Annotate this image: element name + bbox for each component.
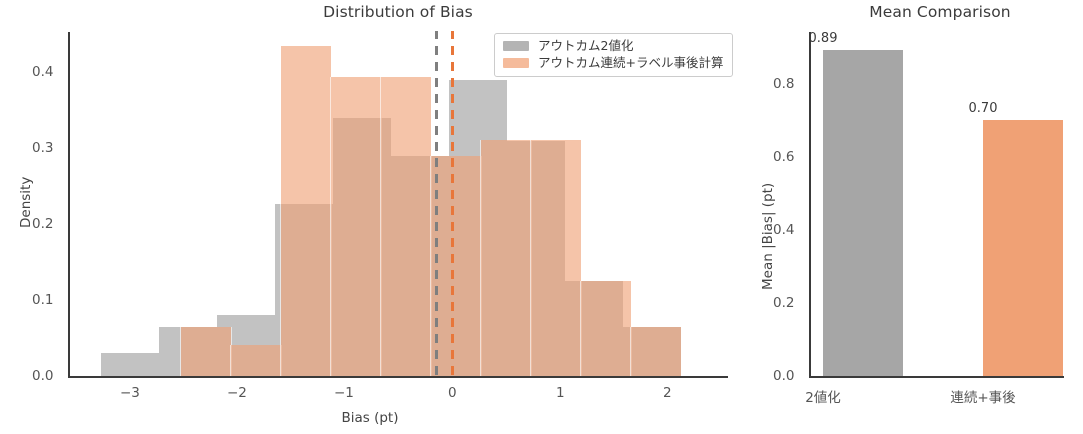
mean-line-binary [435,31,438,376]
hist-bar-gray [101,353,159,376]
left-xtick-neg1: −1 [334,385,354,401]
left-panel-title: Distribution of Bias [68,3,728,21]
left-ytick-1: 0.1 [32,292,53,308]
hist-bar-orange [580,281,632,376]
hist-bar-orange [180,327,232,376]
mean-bar-value-binary: 0.89 [783,31,863,46]
hist-bar-orange [330,77,382,376]
legend-label-binary: アウトカム2値化 [538,39,633,53]
right-panel-mean-comparison: Mean Comparison 0.0 0.2 0.4 0.6 0.8 Mean… [740,0,1083,434]
right-ytick-0: 0.0 [773,368,794,384]
mean-line-continuous [451,31,454,376]
left-xtick-2: 2 [663,385,672,401]
legend-swatch-gray-icon [503,41,529,51]
mean-bar-continuous[interactable] [983,120,1063,376]
hist-bar-orange [430,156,482,376]
left-panel-legend[interactable]: アウトカム2値化 アウトカム連続+ラベル事後計算 [494,33,733,77]
mean-bar-binary[interactable] [823,50,903,376]
right-ytick-1: 0.2 [773,295,794,311]
left-ytick-4: 0.4 [32,64,53,80]
figure-canvas: Distribution of Bias 0.0 0.1 0.2 0.3 0.4… [0,0,1083,434]
left-xtick-0: 0 [448,385,457,401]
left-panel-distribution-of-bias: Distribution of Bias 0.0 0.1 0.2 0.3 0.4… [0,0,740,434]
right-panel-title: Mean Comparison [800,3,1080,21]
legend-label-continuous: アウトカム連続+ラベル事後計算 [538,56,723,70]
right-x-axis-line [809,376,1064,378]
left-x-axis-title: Bias (pt) [0,410,740,426]
hist-bar-orange [530,140,582,376]
hist-bar-orange [380,77,432,376]
left-plot-area [68,31,728,376]
left-x-axis-line [68,376,728,378]
hist-bar-orange [280,46,332,376]
left-xtick-neg3: −3 [120,385,140,401]
left-ytick-0: 0.0 [32,368,53,384]
left-ytick-3: 0.3 [32,140,53,156]
right-ytick-3: 0.6 [773,149,794,165]
legend-entry-continuous[interactable]: アウトカム連続+ラベル事後計算 [503,56,723,70]
hist-bar-orange [630,327,682,376]
right-plot-area [810,31,1065,376]
left-xtick-1: 1 [556,385,565,401]
right-ytick-2: 0.4 [773,222,794,238]
legend-entry-binary[interactable]: アウトカム2値化 [503,39,723,53]
right-ytick-4: 0.8 [773,76,794,92]
mean-bar-value-continuous: 0.70 [943,101,1023,116]
right-xtick-continuous: 連続+事後 [943,386,1023,406]
right-xtick-binary: 2値化 [783,386,863,406]
right-y-axis-title: Mean |Bias| (pt) [760,183,776,290]
hist-bar-orange [480,140,532,376]
left-xtick-neg2: −2 [227,385,247,401]
left-ytick-2: 0.2 [32,216,53,232]
left-y-axis-title: Density [18,177,34,228]
hist-bar-orange [230,345,282,376]
legend-swatch-orange-icon [503,58,529,68]
